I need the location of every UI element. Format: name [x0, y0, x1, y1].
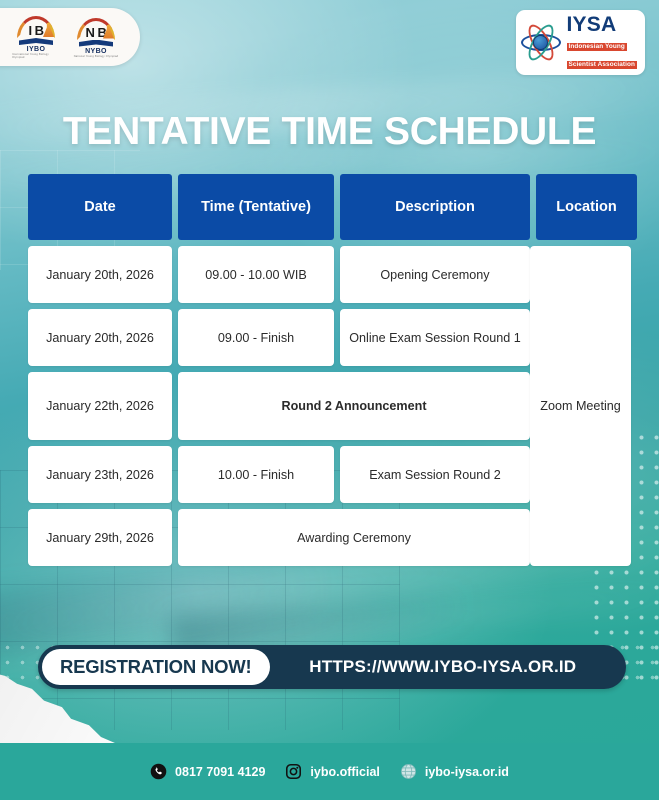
nybo-logo-label: NYBO [85, 48, 107, 55]
cell-location-merged: Zoom Meeting [530, 246, 631, 566]
nybo-logo-tagline: National Young Biology Olympiad [74, 55, 119, 58]
contact-instagram-value: iybo.official [310, 765, 379, 779]
table-header-row: Date Time (Tentative) Description Locati… [28, 174, 631, 240]
cell-date: January 23th, 2026 [28, 446, 172, 503]
contact-website[interactable]: iybo-iysa.or.id [400, 763, 509, 780]
iybo-logo: I B IYBO International Young Biology Oly… [12, 15, 60, 59]
registration-banner[interactable]: REGISTRATION NOW! HTTPS://WWW.IYBO-IYSA.… [38, 645, 626, 689]
nybo-logo-icon: N B [74, 17, 118, 47]
cell-date: January 20th, 2026 [28, 309, 172, 366]
column-header-date: Date [28, 174, 172, 240]
iysa-logo-text: IYSA Indonesian Young Scientist Associat… [567, 14, 638, 71]
registration-cta-button[interactable]: REGISTRATION NOW! [42, 649, 270, 685]
iybo-logo-label: IYBO [27, 46, 46, 53]
contact-website-value: iybo-iysa.or.id [425, 765, 509, 779]
table-row: January 29th, 2026 Awarding Ceremony [28, 509, 524, 566]
contact-phone-value: 0817 7091 4129 [175, 765, 265, 779]
registration-url-link[interactable]: HTTPS://WWW.IYBO-IYSA.OR.ID [270, 657, 626, 677]
partner-logos-card: I B IYBO International Young Biology Oly… [0, 8, 140, 66]
cell-description: Exam Session Round 2 [340, 446, 530, 503]
contact-instagram[interactable]: iybo.official [285, 763, 379, 780]
cell-time: 10.00 - Finish [178, 446, 334, 503]
table-body: January 20th, 2026 09.00 - 10.00 WIB Ope… [28, 246, 631, 566]
column-header-location: Location [536, 174, 637, 240]
iybo-logo-tagline: International Young Biology Olympiad [12, 53, 60, 59]
footer-contacts: 0817 7091 4129 iybo.official iybo-iysa.o… [0, 743, 659, 800]
cell-date: January 20th, 2026 [28, 246, 172, 303]
globe-icon [400, 763, 417, 780]
cell-merged-ceremony: Awarding Ceremony [178, 509, 530, 566]
iysa-logo-subtitle-1: Indonesian Young [567, 43, 627, 51]
nybo-logo: N B NYBO National Young Biology Olympiad [72, 17, 120, 58]
cell-description: Online Exam Session Round 1 [340, 309, 530, 366]
table-row: January 20th, 2026 09.00 - Finish Online… [28, 309, 524, 366]
table-row: January 20th, 2026 09.00 - 10.00 WIB Ope… [28, 246, 524, 303]
column-header-description: Description [340, 174, 530, 240]
page-title: TENTATIVE TIME SCHEDULE [0, 110, 659, 154]
poster-content: I B IYBO International Young Biology Oly… [0, 0, 659, 800]
contact-phone[interactable]: 0817 7091 4129 [150, 763, 265, 780]
column-header-time: Time (Tentative) [178, 174, 334, 240]
iysa-logo-title: IYSA [567, 14, 638, 35]
cell-date: January 22th, 2026 [28, 372, 172, 440]
cell-time: 09.00 - Finish [178, 309, 334, 366]
schedule-table: Date Time (Tentative) Description Locati… [28, 174, 631, 566]
iysa-logo: IYSA Indonesian Young Scientist Associat… [516, 10, 646, 75]
instagram-icon [285, 763, 302, 780]
cell-description: Opening Ceremony [340, 246, 530, 303]
atom-icon [520, 22, 562, 64]
cell-date: January 29th, 2026 [28, 509, 172, 566]
table-rows-group: January 20th, 2026 09.00 - 10.00 WIB Ope… [28, 246, 524, 566]
phone-icon [150, 763, 167, 780]
table-row: January 23th, 2026 10.00 - Finish Exam S… [28, 446, 524, 503]
table-row: January 22th, 2026 Round 2 Announcement [28, 372, 524, 440]
iybo-logo-icon: I B [14, 15, 58, 45]
iysa-logo-subtitle-2: Scientist Association [567, 61, 638, 69]
cell-time: 09.00 - 10.00 WIB [178, 246, 334, 303]
cell-merged-announcement: Round 2 Announcement [178, 372, 530, 440]
